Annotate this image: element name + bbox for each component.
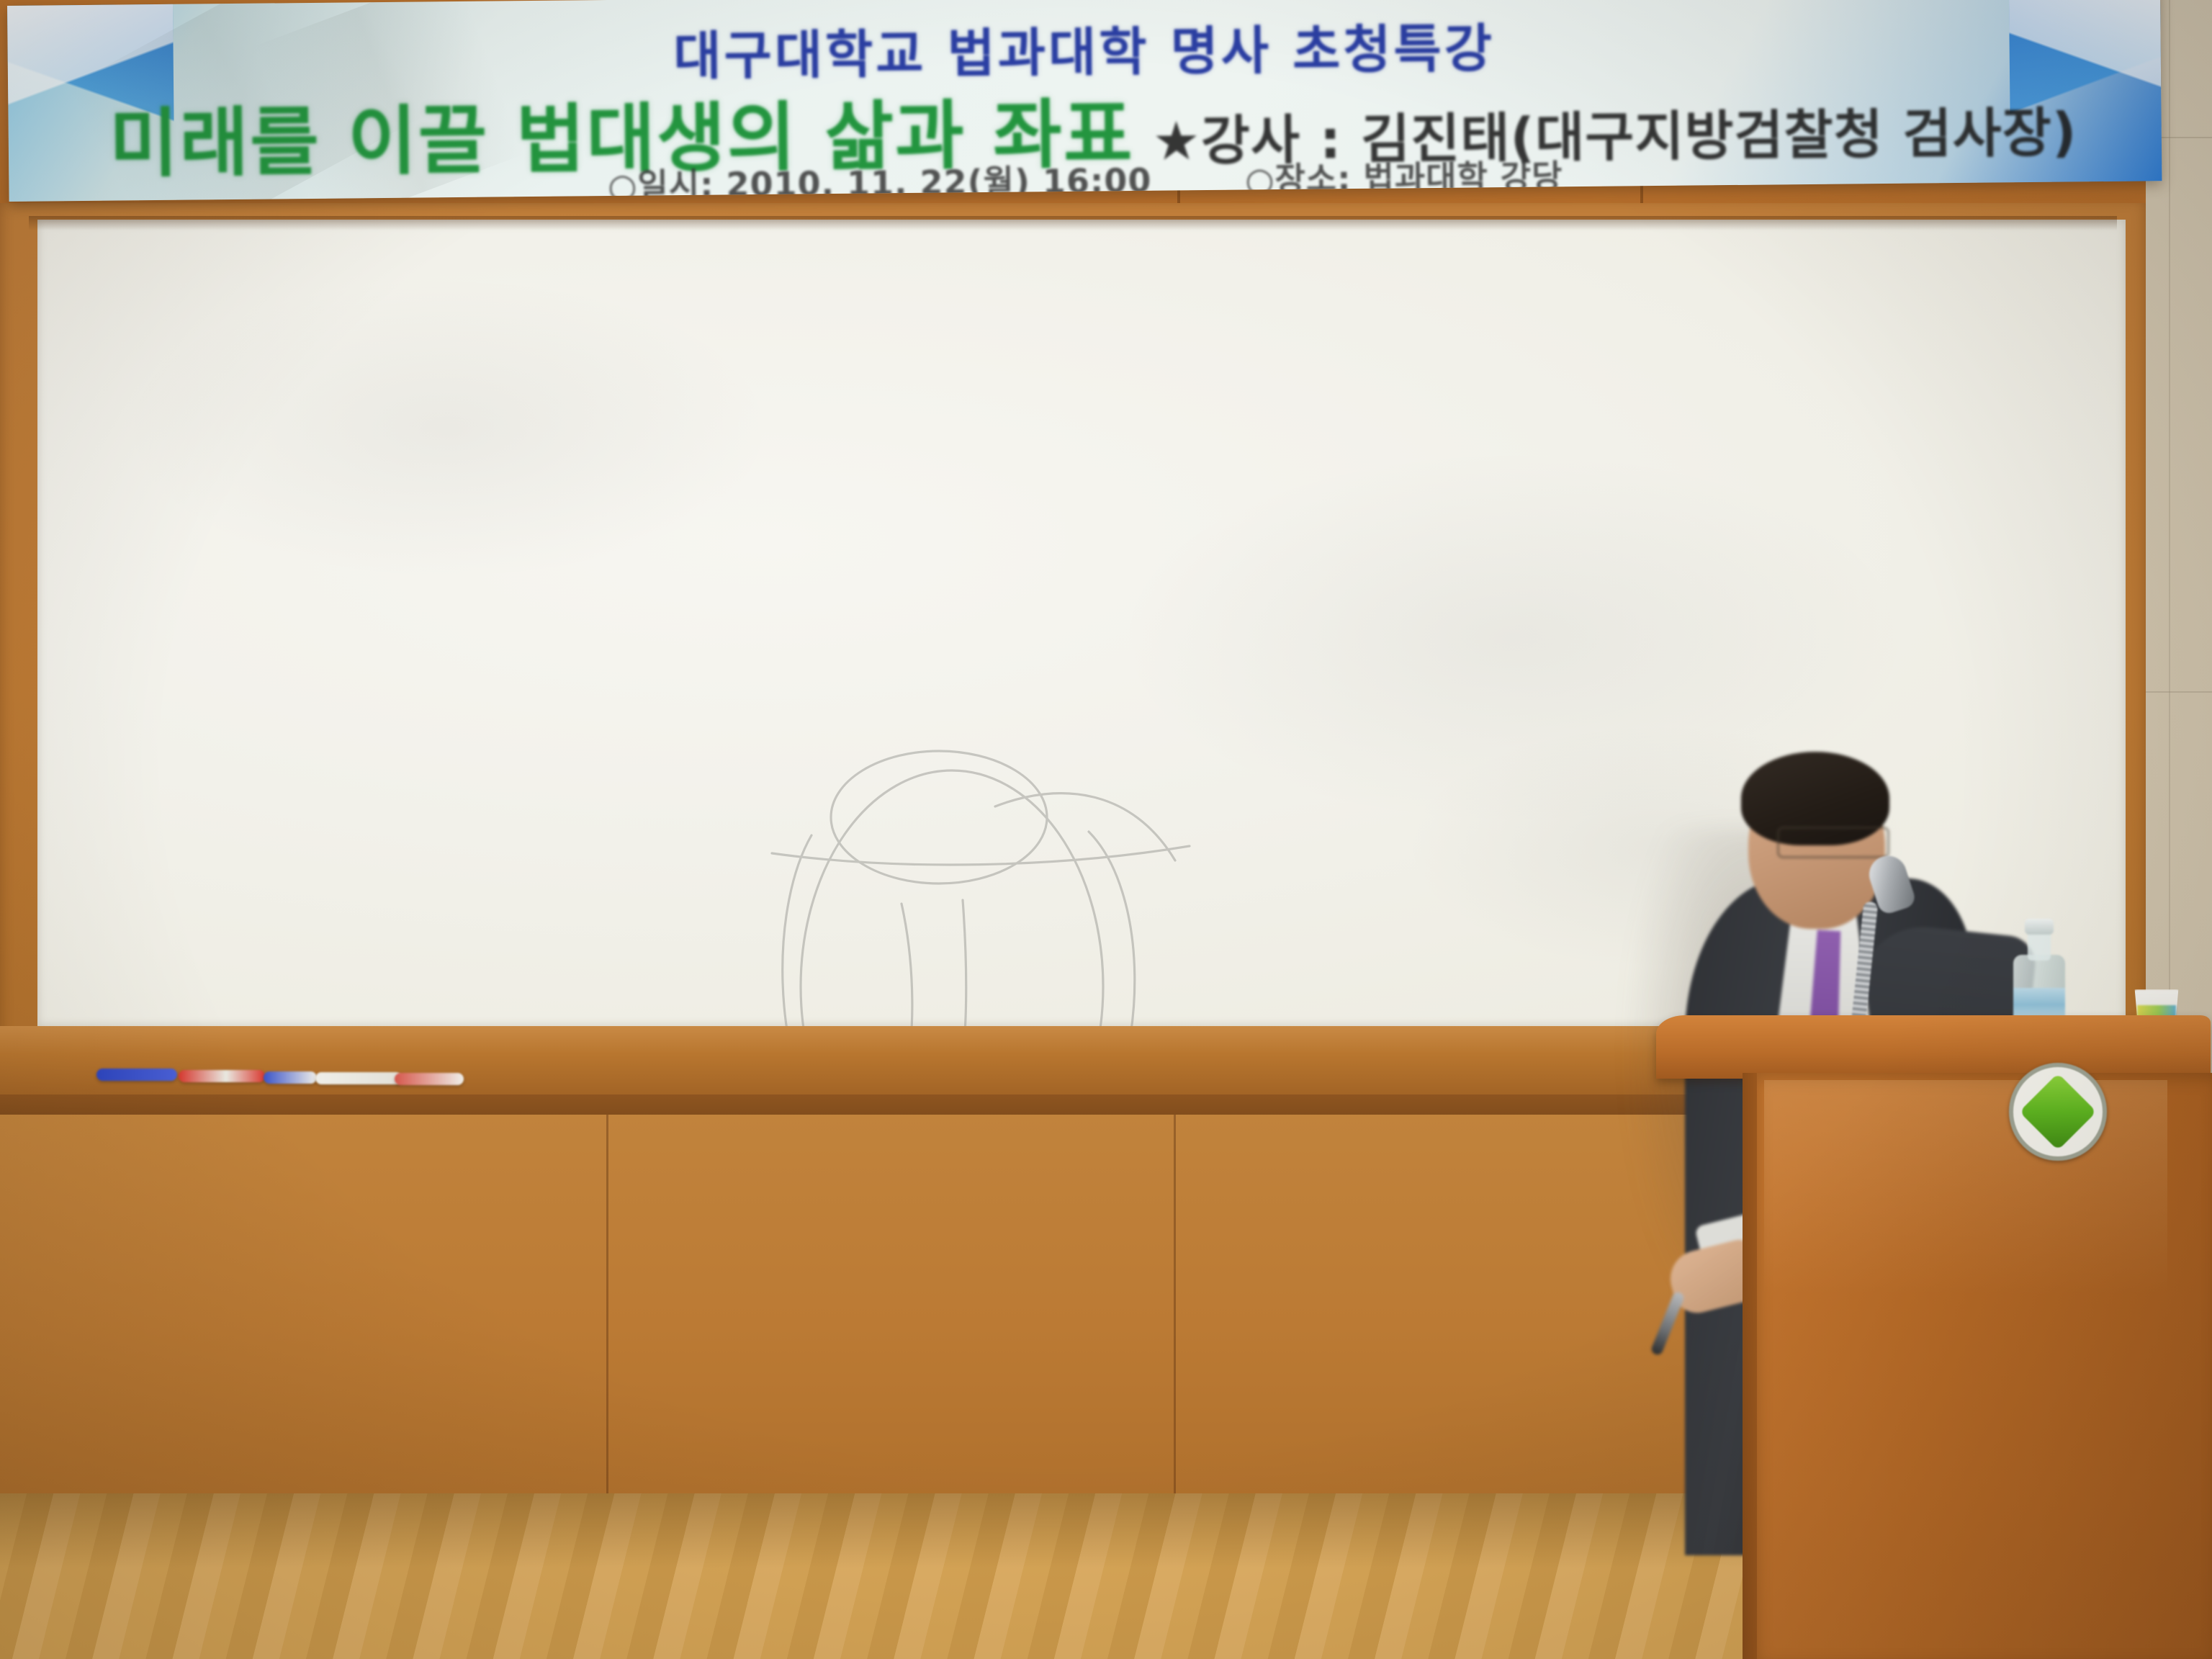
red-marker-2 — [395, 1073, 464, 1085]
blue-marker — [96, 1069, 177, 1081]
white-marker — [264, 1071, 317, 1084]
panel-seam-1 — [606, 1115, 608, 1518]
photo-scene: 대구대학교 법과대학 명사 초청특강 미래를 이끌 법대생의 삶과 좌표 ★강사… — [0, 0, 2212, 1659]
lower-wall-paneling — [0, 1115, 1800, 1539]
panel-seam-2 — [1174, 1115, 1176, 1518]
white-marker-2 — [315, 1072, 402, 1084]
bottle-cap — [2025, 919, 2054, 935]
red-marker — [179, 1070, 265, 1082]
eyeglasses-icon — [1777, 827, 1889, 858]
podium-top-surface — [1656, 1015, 2211, 1079]
whiteboard-inner-shadow — [29, 216, 2117, 230]
university-emblem-inner — [2019, 1073, 2096, 1150]
university-emblem-icon — [2009, 1063, 2107, 1161]
event-banner: 대구대학교 법과대학 명사 초청특강 미래를 이끌 법대생의 삶과 좌표 ★강사… — [7, 0, 2162, 202]
podium-front-panel — [1757, 1073, 2212, 1659]
whiteboard-smudge-1 — [124, 277, 772, 580]
